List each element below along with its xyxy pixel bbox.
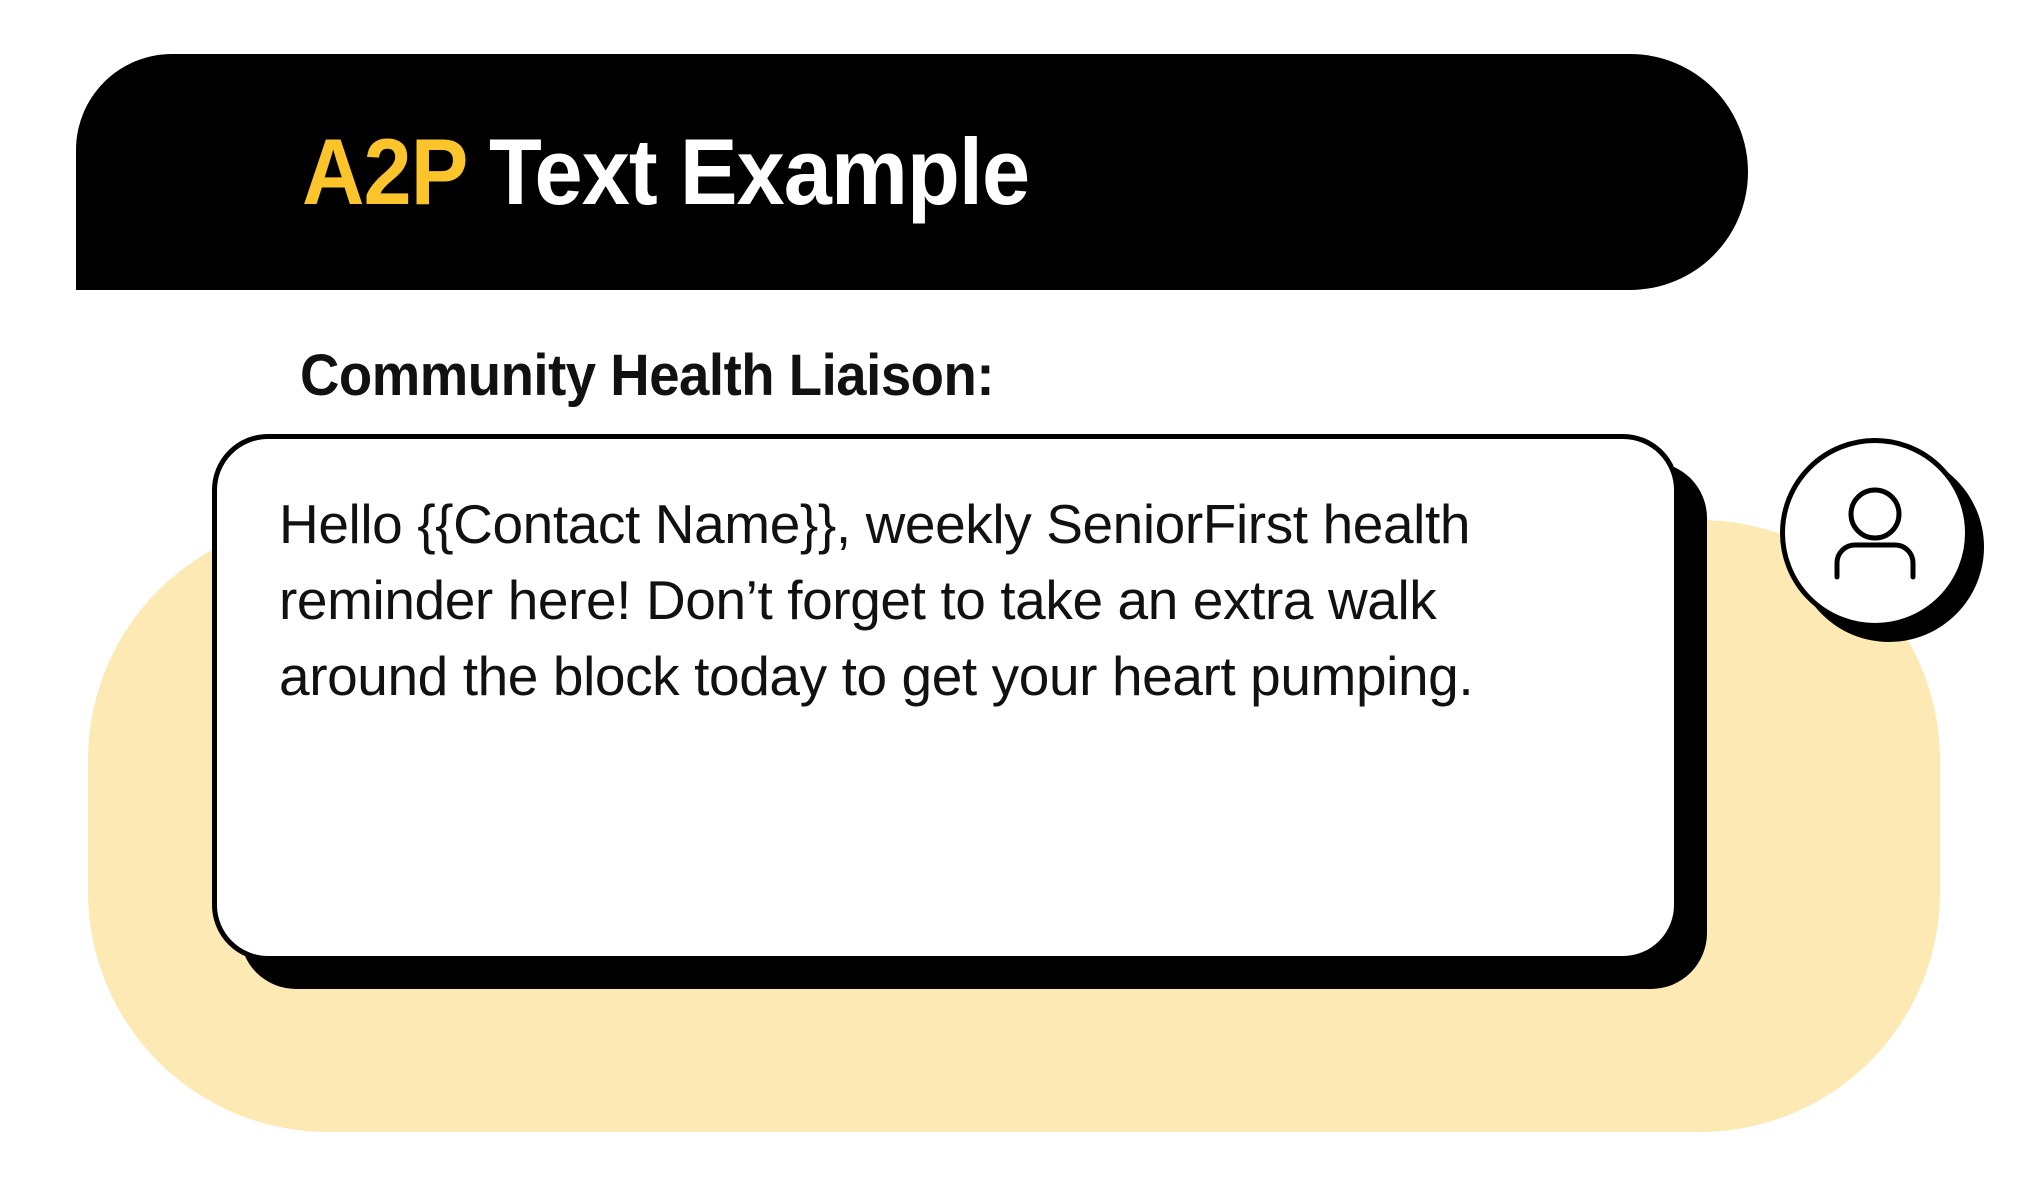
- avatar: [1780, 438, 1970, 628]
- avatar-group: [1780, 438, 1996, 654]
- poster-canvas: A2P Text Example Community Health Liaiso…: [0, 0, 2032, 1184]
- page-title-accent: A2P: [302, 119, 466, 224]
- page-title: A2P Text Example: [302, 125, 1029, 219]
- user-avatar-icon: [1819, 481, 1931, 585]
- message-bubble: Hello {{Contact Name}}, weekly SeniorFir…: [212, 434, 1679, 961]
- page-title-rest: Text Example: [466, 119, 1029, 224]
- title-banner: A2P Text Example: [76, 54, 1748, 290]
- message-text: Hello {{Contact Name}}, weekly SeniorFir…: [279, 487, 1612, 715]
- speaker-label: Community Health Liaison:: [300, 342, 994, 409]
- message-bubble-group: Hello {{Contact Name}}, weekly SeniorFir…: [212, 434, 1707, 989]
